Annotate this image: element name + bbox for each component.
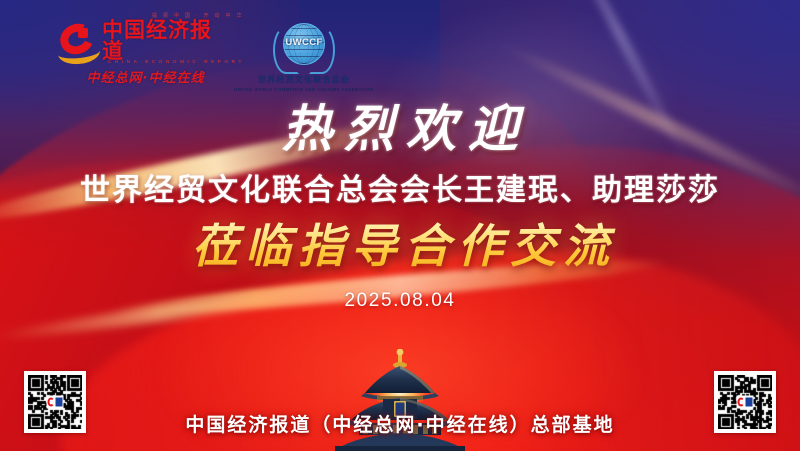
uwccf-name-en: UNITED WORLD COMMERCE AND CULTURE FEDERA… — [234, 87, 374, 92]
cer-subbrand-cn: 中经总网·中经在线 — [58, 67, 233, 86]
laurel-wreath-right-icon — [309, 26, 335, 74]
uwccf-acronym: UWCCF — [273, 37, 335, 48]
qr-left-center-logo — [47, 396, 64, 409]
qr-right-center-logo — [737, 396, 754, 409]
event-date: 2025.08.04 — [0, 290, 800, 312]
china-economic-report-logo: 提 振 中 国 · 开 动 中 华 中国经济报道 CHINA ECONOMIC … — [58, 27, 233, 83]
footer-caption: 中国经济报道（中经总网·中经在线）总部基地 — [0, 410, 800, 437]
cer-logo-row: 提 振 中 国 · 开 动 中 华 中国经济报道 — [58, 24, 233, 58]
cer-tagline-tiny: 提 振 中 国 · 开 动 中 华 — [152, 12, 244, 19]
qr-code-right-image — [718, 375, 772, 429]
guest-names-line: 世界经贸文化联合总会会长王建珉、助理莎莎 — [0, 176, 800, 206]
cer-name-cn: 中国经济报道 — [102, 20, 233, 62]
uwccf-emblem-icon: UWCCF — [273, 22, 335, 72]
welcome-headline: 热烈欢迎 — [0, 104, 800, 154]
action-headline: 莅临指导合作交流 — [0, 222, 800, 270]
cer-c-mark-icon — [58, 24, 102, 58]
uwccf-logo: UWCCF 世界经贸文化联合总会 UNITED WORLD COMMERCE A… — [240, 22, 368, 94]
laurel-wreath-left-icon — [273, 26, 299, 74]
uwccf-name-cn: 世界经贸文化联合总会 — [258, 74, 350, 85]
qr-code-left[interactable] — [24, 371, 86, 433]
qr-code-right[interactable] — [714, 371, 776, 433]
header-logos: 提 振 中 国 · 开 动 中 华 中国经济报道 CHINA ECONOMIC … — [0, 0, 800, 100]
qr-code-left-image — [28, 375, 82, 429]
poster-canvas: 提 振 中 国 · 开 动 中 华 中国经济报道 CHINA ECONOMIC … — [0, 0, 800, 451]
main-title-block: 热烈欢迎 世界经贸文化联合总会会长王建珉、助理莎莎 莅临指导合作交流 2025.… — [0, 104, 800, 312]
